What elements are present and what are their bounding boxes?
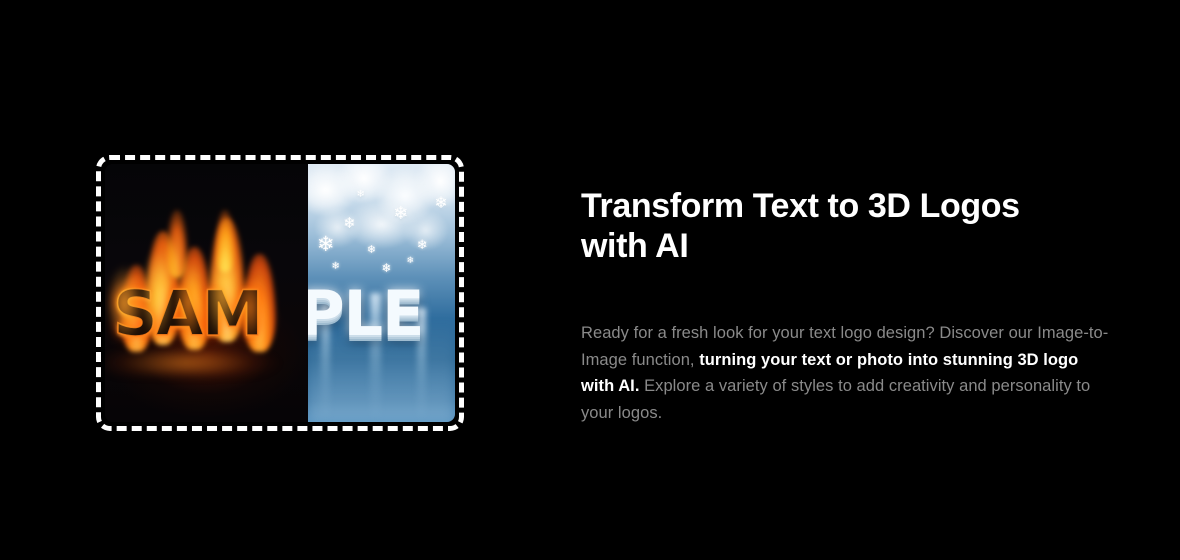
headline-line-1: Transform Text to 3D Logos [581,187,1020,225]
ice-word: PLE [308,283,424,345]
headline-line-2: with AI [581,227,688,265]
flame-tip [215,210,235,272]
artwork-ice-half: ❄ ❄ ❄ ❄ ❄ ❄ ❄ ❄ ❄ ❄ PLE [308,164,455,422]
description-part-3: Explore a variety of styles to add creat… [581,377,1090,422]
promo-description: Ready for a fresh look for your text log… [581,320,1109,427]
artwork-fire-half: SAM [105,164,308,422]
sample-image-frame[interactable]: SAM ❄ ❄ ❄ ❄ ❄ ❄ ❄ ❄ ❄ ❄ PLE [96,155,464,431]
flame-tip [166,210,188,277]
promo-section: SAM ❄ ❄ ❄ ❄ ❄ ❄ ❄ ❄ ❄ ❄ PLE [0,0,1180,560]
page-title: Transform Text to 3D Logos with AI [581,186,1109,267]
fire-word: SAM [113,283,261,345]
sample-artwork: SAM ❄ ❄ ❄ ❄ ❄ ❄ ❄ ❄ ❄ ❄ PLE [105,164,455,422]
ember-glow [105,350,308,376]
promo-copy: Transform Text to 3D Logos with AI Ready… [581,186,1109,427]
